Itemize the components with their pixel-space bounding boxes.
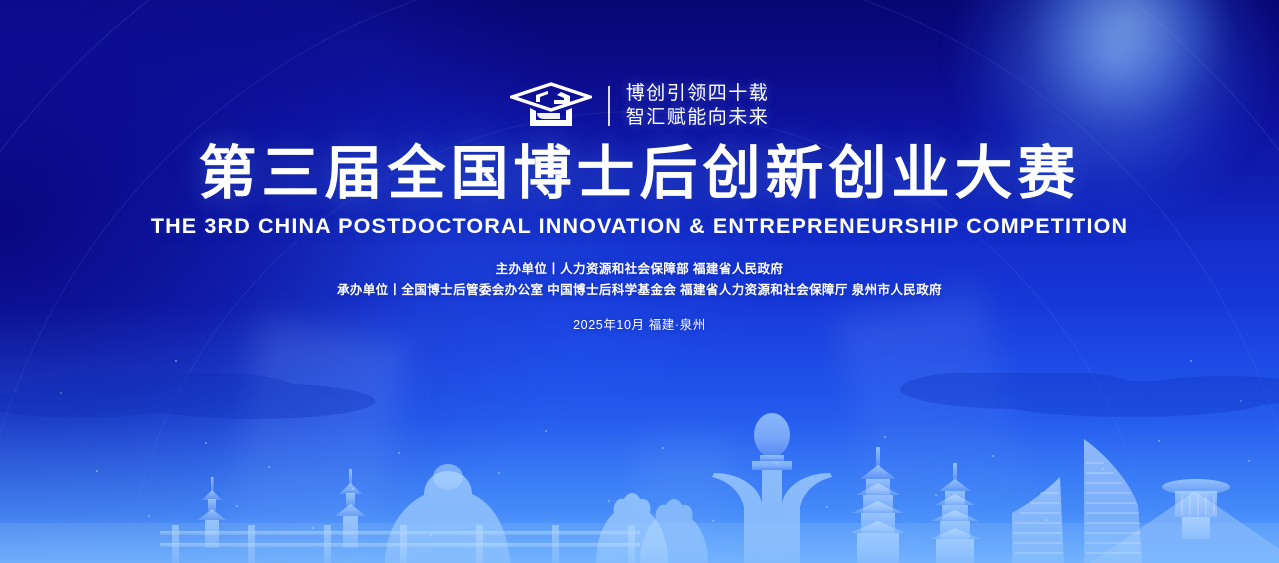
- slogan-line-2: 智汇赋能向未来: [626, 106, 770, 130]
- cloud-bank-left: [0, 373, 375, 419]
- organizer-line-host: 主办单位丨人力资源和社会保障部 福建省人民政府: [0, 259, 1279, 280]
- graduation-cap-emblem-icon: [510, 82, 592, 130]
- city-skyline-silhouette: [0, 373, 1279, 563]
- slogan-line-1: 博创引领四十载: [626, 82, 770, 106]
- logo-lockup: 博创引领四十载 智汇赋能向未来: [0, 82, 1279, 130]
- main-title-en: THE 3RD CHINA POSTDOCTORAL INNOVATION & …: [0, 214, 1279, 239]
- date-location-line: 2025年10月 福建·泉州: [0, 314, 1279, 333]
- poster-canvas: 博创引领四十载 智汇赋能向未来 第三届全国博士后创新创业大赛 THE 3RD C…: [0, 0, 1279, 563]
- main-title-cn: 第三届全国博士后创新创业大赛: [0, 144, 1279, 205]
- logo-divider: [608, 86, 610, 126]
- organizer-block: 主办单位丨人力资源和社会保障部 福建省人民政府 承办单位丨全国博士后管委会办公室…: [0, 259, 1279, 301]
- cloud-bank-right: [900, 373, 1279, 417]
- organizer-line-co-host: 承办单位丨全国博士后管委会办公室 中国博士后科学基金会 福建省人力资源和社会保障…: [0, 280, 1279, 301]
- poster-content: 博创引领四十载 智汇赋能向未来 第三届全国博士后创新创业大赛 THE 3RD C…: [0, 0, 1279, 333]
- logo-slogan: 博创引领四十载 智汇赋能向未来: [626, 82, 770, 130]
